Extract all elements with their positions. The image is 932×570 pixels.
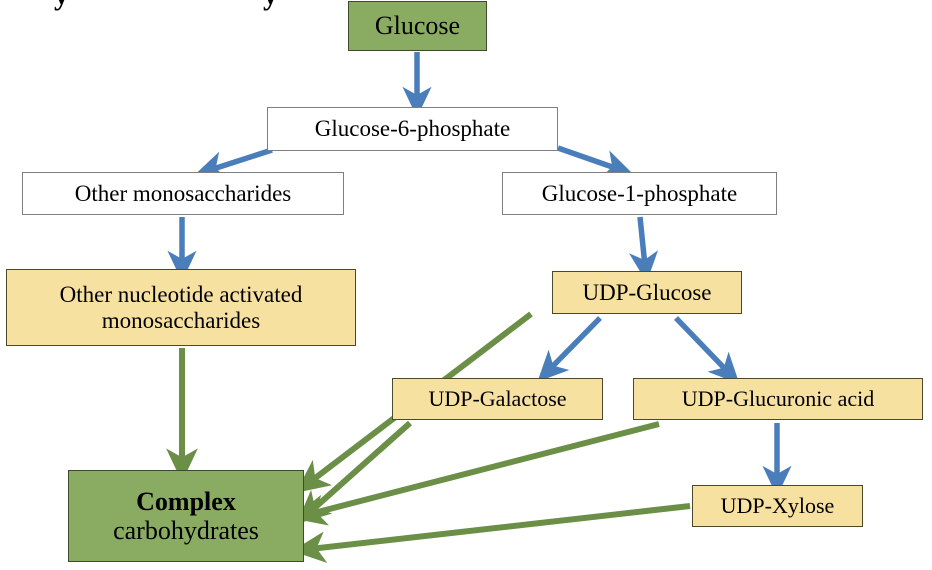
arrow-udp-xylose-to-complex — [310, 506, 690, 549]
node-other-nucleotide-line2: monosaccharides — [102, 308, 260, 334]
arrow-g6p-to-other-monosaccharides — [210, 150, 272, 170]
node-udp-xylose[interactable]: UDP-Xylose — [692, 485, 863, 527]
node-udp-galactose[interactable]: UDP-Galactose — [392, 378, 603, 420]
node-udp-glucose-label: UDP-Glucose — [582, 280, 711, 306]
node-udp-glucose[interactable]: UDP-Glucose — [552, 271, 742, 314]
node-complex-carbohydrates[interactable]: Complex carbohydrates — [68, 470, 304, 562]
arrow-udp-glucose-to-udp-galactose — [549, 318, 600, 370]
node-complex-line2: carbohydrates — [113, 516, 259, 545]
node-glucose[interactable]: Glucose — [348, 1, 487, 51]
node-glucose-1-phosphate[interactable]: Glucose-1-phosphate — [502, 172, 777, 215]
node-other-monosaccharides-label: Other monosaccharides — [75, 181, 292, 207]
node-complex-line1: Complex — [136, 487, 236, 516]
node-other-monosaccharides[interactable]: Other monosaccharides — [22, 172, 344, 215]
flowchart-diagram: y y Gluco — [0, 0, 932, 570]
node-udp-glucuronic-acid-label: UDP-Glucuronic acid — [682, 387, 874, 412]
node-glucose-6-phosphate[interactable]: Glucose-6-phosphate — [267, 107, 558, 151]
arrow-g1p-to-udp-glucose — [640, 217, 645, 266]
node-glucose-1-phosphate-label: Glucose-1-phosphate — [542, 181, 737, 207]
arrow-udp-galactose-to-complex — [310, 423, 410, 512]
node-other-nucleotide-line1: Other nucleotide activated — [60, 282, 303, 308]
node-udp-glucuronic-acid[interactable]: UDP-Glucuronic acid — [633, 378, 923, 420]
arrow-udp-glucose-to-udp-glucuronic — [676, 318, 728, 372]
node-other-nucleotide-activated-monosaccharides[interactable]: Other nucleotide activated monosaccharid… — [6, 269, 356, 346]
node-glucose-label: Glucose — [375, 11, 460, 40]
arrow-udp-glucuronic-to-complex — [310, 424, 659, 514]
node-udp-xylose-label: UDP-Xylose — [721, 494, 835, 519]
node-glucose-6-phosphate-label: Glucose-6-phosphate — [315, 116, 510, 142]
arrow-g6p-to-g1p — [558, 148, 618, 169]
node-udp-galactose-label: UDP-Galactose — [428, 387, 566, 412]
